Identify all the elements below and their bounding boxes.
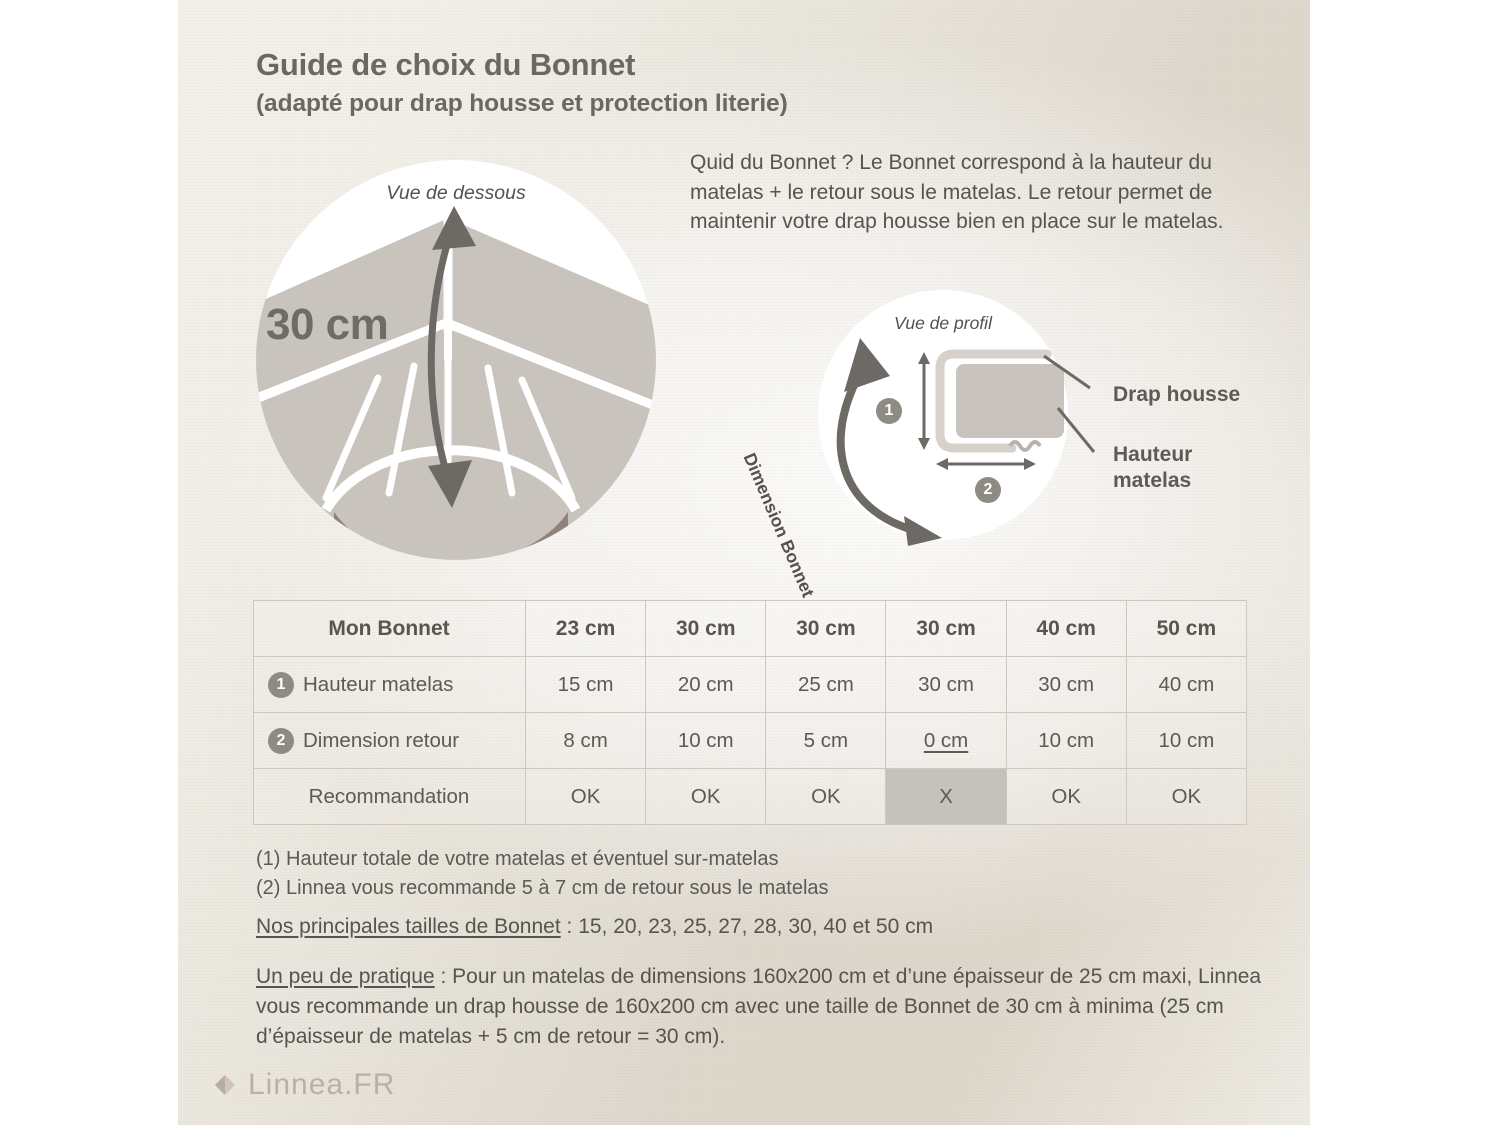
title-main: Guide de choix du Bonnet bbox=[256, 48, 1016, 83]
table-cell-hauteur-2: 25 cm bbox=[766, 657, 886, 713]
table-row-label-reco: Recommandation bbox=[254, 769, 526, 825]
intro-paragraph: Quid du Bonnet ? Le Bonnet correspond à … bbox=[690, 148, 1270, 237]
table-cell-retour-1: 10 cm bbox=[646, 713, 766, 769]
table-row-header: Mon Bonnet 23 cm 30 cm 30 cm 30 cm 40 cm… bbox=[254, 601, 1247, 657]
table-row-hauteur: 1 Hauteur matelas 15 cm 20 cm 25 cm 30 c… bbox=[254, 657, 1247, 713]
diagram-profile-view: Vue de profil Dimension Bonnet 1 2 bbox=[818, 290, 1068, 540]
pratique-paragraph: Un peu de pratique : Pour un matelas de … bbox=[256, 962, 1266, 1051]
pratique-label: Un peu de pratique bbox=[256, 965, 435, 988]
callout-hauteur-matelas: Hauteur matelas bbox=[1113, 442, 1192, 493]
table-cell-hauteur-5: 40 cm bbox=[1126, 657, 1246, 713]
table-cell-reco-1: OK bbox=[646, 769, 766, 825]
diagram-bottom-view: Vue de dessous 30 cm bbox=[256, 160, 656, 560]
table-cell-retour-0: 8 cm bbox=[526, 713, 646, 769]
callout-drap-housse: Drap housse bbox=[1113, 382, 1240, 408]
title-subtitle: (adapté pour drap housse et protection l… bbox=[256, 90, 1016, 117]
sizes-line: Nos principales tailles de Bonnet : 15, … bbox=[256, 915, 1156, 939]
table-cell-reco-3: X bbox=[886, 769, 1006, 825]
table-cell-hauteur-3: 30 cm bbox=[886, 657, 1006, 713]
table-cell-bonnet-1: 30 cm bbox=[646, 601, 766, 657]
diamond-leaf-icon bbox=[212, 1072, 238, 1098]
sizes-value: : 15, 20, 23, 25, 27, 28, 30, 40 et 50 c… bbox=[561, 915, 933, 938]
table-cell-bonnet-4: 40 cm bbox=[1006, 601, 1126, 657]
marker-1-badge: 1 bbox=[876, 398, 902, 424]
row-label-text: Hauteur matelas bbox=[303, 673, 453, 697]
table-cell-reco-5: OK bbox=[1126, 769, 1246, 825]
bottom-view-label: Vue de dessous bbox=[256, 182, 656, 205]
table-row-reco: Recommandation OK OK OK X OK OK bbox=[254, 769, 1247, 825]
sizes-label: Nos principales tailles de Bonnet bbox=[256, 915, 561, 938]
table-cell-reco-4: OK bbox=[1006, 769, 1126, 825]
table-cell-bonnet-3: 30 cm bbox=[886, 601, 1006, 657]
table-row-label-hauteur: 1 Hauteur matelas bbox=[254, 657, 526, 713]
callout-line-2: matelas bbox=[1113, 468, 1192, 494]
marker-2-badge: 2 bbox=[975, 477, 1001, 503]
bottom-view-measure: 30 cm bbox=[266, 300, 388, 350]
table-cell-bonnet-0: 23 cm bbox=[526, 601, 646, 657]
table-row-label-retour: 2 Dimension retour bbox=[254, 713, 526, 769]
marker-1-badge: 1 bbox=[268, 672, 294, 698]
table-cell-reco-0: OK bbox=[526, 769, 646, 825]
table-cell-reco-2: OK bbox=[766, 769, 886, 825]
bonnet-table: Mon Bonnet 23 cm 30 cm 30 cm 30 cm 40 cm… bbox=[253, 600, 1247, 825]
infographic-page: Guide de choix du Bonnet (adapté pour dr… bbox=[0, 0, 1500, 1125]
table-cell-bonnet-5: 50 cm bbox=[1126, 601, 1246, 657]
table-cell-retour-3: 0 cm bbox=[886, 713, 1006, 769]
table-cell-retour-5: 10 cm bbox=[1126, 713, 1246, 769]
page-title: Guide de choix du Bonnet (adapté pour dr… bbox=[256, 48, 1016, 117]
table-cell-retour-2: 5 cm bbox=[766, 713, 886, 769]
retour-value-underlined: 0 cm bbox=[924, 729, 968, 752]
table-cell-hauteur-0: 15 cm bbox=[526, 657, 646, 713]
table-cell-hauteur-1: 20 cm bbox=[646, 657, 766, 713]
row-label-text: Dimension retour bbox=[303, 729, 459, 753]
footnote-2: (2) Linnea vous recommande 5 à 7 cm de r… bbox=[256, 874, 1156, 903]
table-cell-retour-4: 10 cm bbox=[1006, 713, 1126, 769]
bottom-view-illustration bbox=[256, 160, 656, 560]
table-cell-hauteur-4: 30 cm bbox=[1006, 657, 1126, 713]
footnote-1: (1) Hauteur totale de votre matelas et é… bbox=[256, 845, 1156, 874]
profile-view-label: Vue de profil bbox=[818, 313, 1068, 334]
table-row-retour: 2 Dimension retour 8 cm 10 cm 5 cm 0 cm … bbox=[254, 713, 1247, 769]
marker-2-badge: 2 bbox=[268, 728, 294, 754]
table-header-label: Mon Bonnet bbox=[254, 601, 526, 657]
logo[interactable]: Linnea.FR bbox=[212, 1068, 395, 1102]
logo-text: Linnea.FR bbox=[248, 1068, 395, 1102]
table-cell-bonnet-2: 30 cm bbox=[766, 601, 886, 657]
footnotes: (1) Hauteur totale de votre matelas et é… bbox=[256, 845, 1156, 903]
callout-line-1: Hauteur bbox=[1113, 442, 1192, 468]
